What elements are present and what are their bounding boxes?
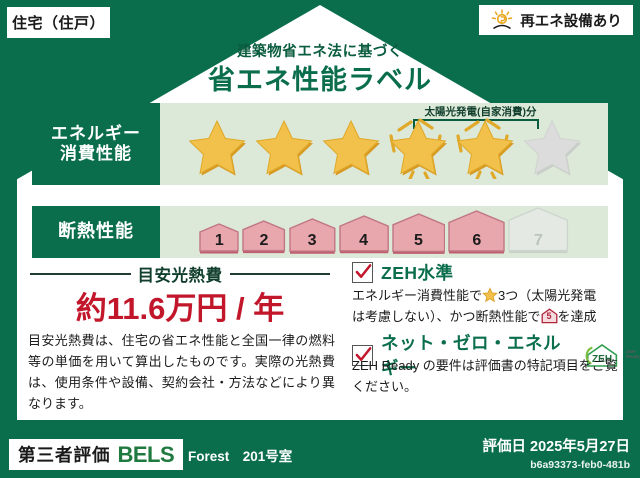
bels-certification-chip: 第三者評価 BELS (9, 439, 183, 470)
star-icon-solar (387, 117, 449, 177)
zeh-note-part-c: を達成 (558, 309, 597, 324)
star-icon-filled (186, 117, 248, 177)
renewable-equipment-chip: 再エネ設備あり (478, 4, 634, 36)
zeh-standard-title: ZEH水準 (381, 260, 454, 285)
sun-icon (490, 9, 514, 31)
insulation-performance-row: 断熱性能 1234567 (32, 206, 608, 258)
insulation-badge-active: 6 (448, 210, 505, 255)
zeh-note-star-count: 3つ（太陽光発電 (498, 288, 596, 303)
estimated-cost-note: 目安光熱費は、住宅の省エネ性能と全国一律の燃料等の単価を用いて算出したものです。… (28, 330, 335, 414)
renewable-equipment-label: 再エネ設備あり (520, 10, 622, 31)
building-type-label: 住宅（住戸） (12, 12, 105, 33)
evaluation-id: b6a93373-feb0-481b (530, 459, 630, 471)
energy-star-rating (186, 117, 583, 177)
star-icon-empty (521, 117, 583, 177)
heading-rule-left (30, 273, 131, 275)
insulation-badge-active: 4 (339, 215, 389, 255)
insulation-badge-number: 7 (508, 232, 568, 250)
insulation-level-scale: 1234567 (199, 209, 568, 255)
zeh-note-part-b: は考慮しない）、かつ断熱性能で (352, 309, 541, 324)
star-icon-filled (320, 117, 382, 177)
insulation-label-text: 断熱性能 (58, 221, 134, 243)
energy-label-line2: 消費性能 (60, 144, 132, 164)
insulation-badge-icon-inline: 5 (541, 308, 558, 324)
insulation-badge-active: 2 (242, 220, 285, 255)
insulation-badge-active: 3 (289, 218, 336, 255)
insulation-badge-number: 1 (199, 232, 239, 250)
insulation-badge-number: 6 (448, 232, 505, 250)
energy-label-line1: エネルギー (51, 124, 141, 144)
insulation-badge-icon-number: 5 (541, 308, 558, 324)
insulation-performance-label: 断熱性能 (32, 206, 160, 258)
insulation-badge-number: 3 (289, 232, 336, 250)
energy-star-panel: 太陽光発電(自家消費)分 (160, 103, 608, 185)
evaluation-date: 評価日 2025年5月27日 (483, 435, 630, 456)
insulation-badge-active: 1 (199, 223, 239, 255)
estimated-cost-value: 約11.6万円 / 年 (30, 283, 330, 328)
energy-performance-row: エネルギー 消費性能 太陽光発電(自家消費)分 (32, 103, 608, 185)
zeh-ready-logo-sub2: Ready (626, 355, 640, 360)
insulation-badge-active: 5 (392, 213, 446, 255)
check-icon-zeh (352, 262, 373, 283)
building-name: Forest 201号室 (188, 445, 292, 465)
star-icon-solar (454, 117, 516, 177)
insulation-badge-inactive: 7 (508, 207, 568, 255)
energy-performance-label: エネルギー 消費性能 (32, 103, 160, 185)
insulation-badge-number: 4 (339, 232, 389, 250)
insulation-badge-number: 5 (392, 232, 446, 250)
heading-rule-right (230, 273, 331, 275)
net-zero-energy-note: ZEH Ready の要件は評価書の特記項目をご覧ください。 (352, 355, 620, 397)
zeh-standard-note: エネルギー消費性能で3つ（太陽光発電は考慮しない）、かつ断熱性能で5を達成 (352, 285, 620, 327)
star-icon-inline (482, 287, 498, 303)
page-title: 省エネ性能ラベル (0, 58, 640, 97)
zeh-standard-row: ZEH水準 (352, 260, 454, 285)
building-type-chip: 住宅（住戸） (6, 6, 111, 39)
star-icon-filled (253, 117, 315, 177)
label-canvas: 住宅（住戸） 再エネ設備あり 建築物省エネ法に基づく 省エネ性能ラベル (0, 0, 640, 478)
zeh-note-part-a: エネルギー消費性能で (352, 288, 482, 303)
bels-logo-text: BELS (118, 442, 175, 468)
third-party-evaluation-label: 第三者評価 (18, 442, 111, 467)
insulation-badge-panel: 1234567 (160, 206, 608, 258)
insulation-badge-number: 2 (242, 232, 285, 250)
